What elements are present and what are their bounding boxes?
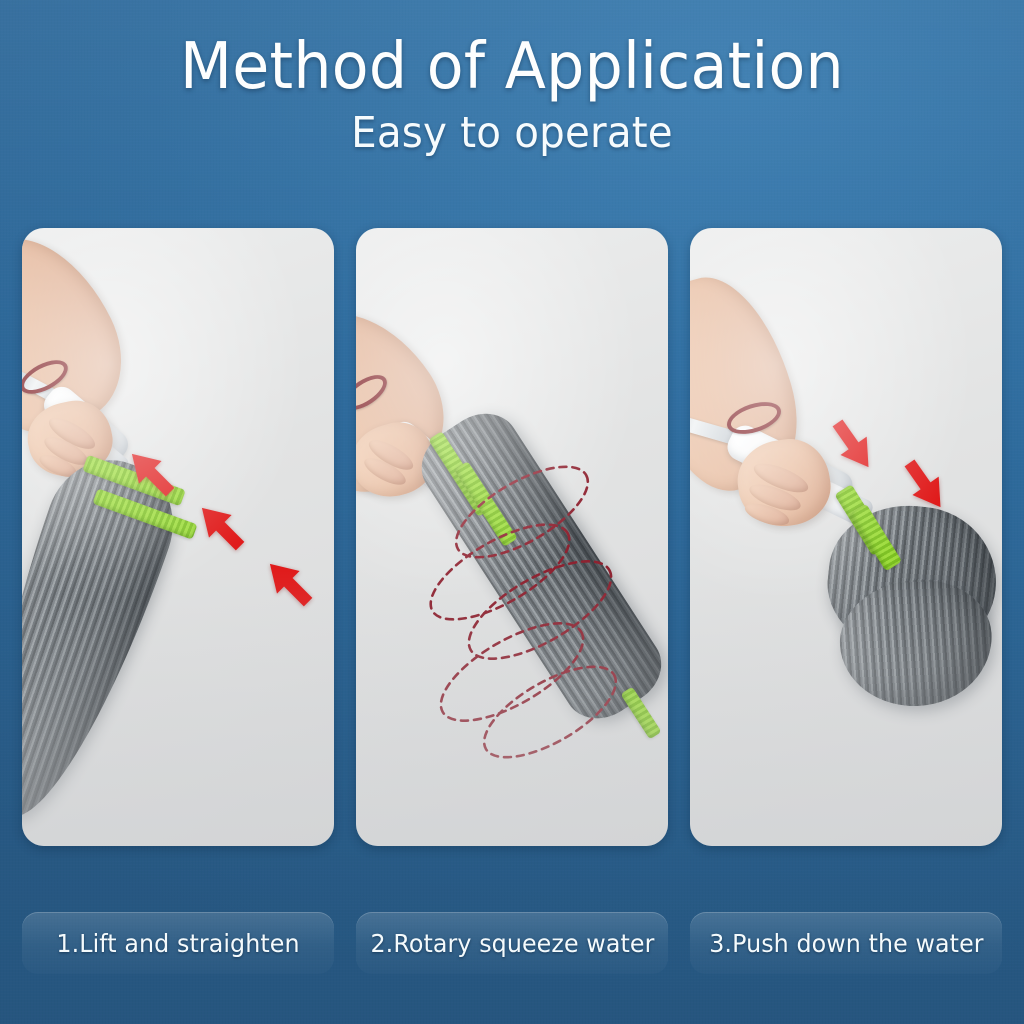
step-captions: 1.Lift and straighten 2.Rotary squeeze w… — [22, 912, 1002, 974]
step-caption-3-text: 3.Push down the water — [709, 929, 983, 958]
step-caption-2[interactable]: 2.Rotary squeeze water — [356, 912, 668, 974]
step-2-photo — [356, 228, 668, 846]
header: Method of Application Easy to operate — [0, 0, 1024, 156]
step-panel-3[interactable] — [690, 228, 1002, 846]
step-caption-3[interactable]: 3.Push down the water — [690, 912, 1002, 974]
direction-arrow-up-2 — [190, 496, 252, 558]
rotation-spiral-icon — [400, 460, 668, 810]
page-title: Method of Application — [31, 34, 994, 101]
step-panels — [22, 228, 1002, 846]
step-panel-2[interactable] — [356, 228, 668, 846]
step-3-photo — [690, 228, 1002, 846]
step-caption-2-text: 2.Rotary squeeze water — [370, 929, 654, 958]
step-caption-1-text: 1.Lift and straighten — [56, 929, 299, 958]
step-panel-1[interactable] — [22, 228, 334, 846]
direction-arrow-up-3 — [258, 552, 320, 614]
step-1-photo — [22, 228, 334, 846]
direction-arrow-down-1 — [822, 414, 884, 476]
direction-arrow-up-1 — [120, 442, 182, 504]
page-subtitle: Easy to operate — [31, 111, 994, 156]
step-caption-1[interactable]: 1.Lift and straighten — [22, 912, 334, 974]
direction-arrow-down-2 — [894, 454, 956, 516]
